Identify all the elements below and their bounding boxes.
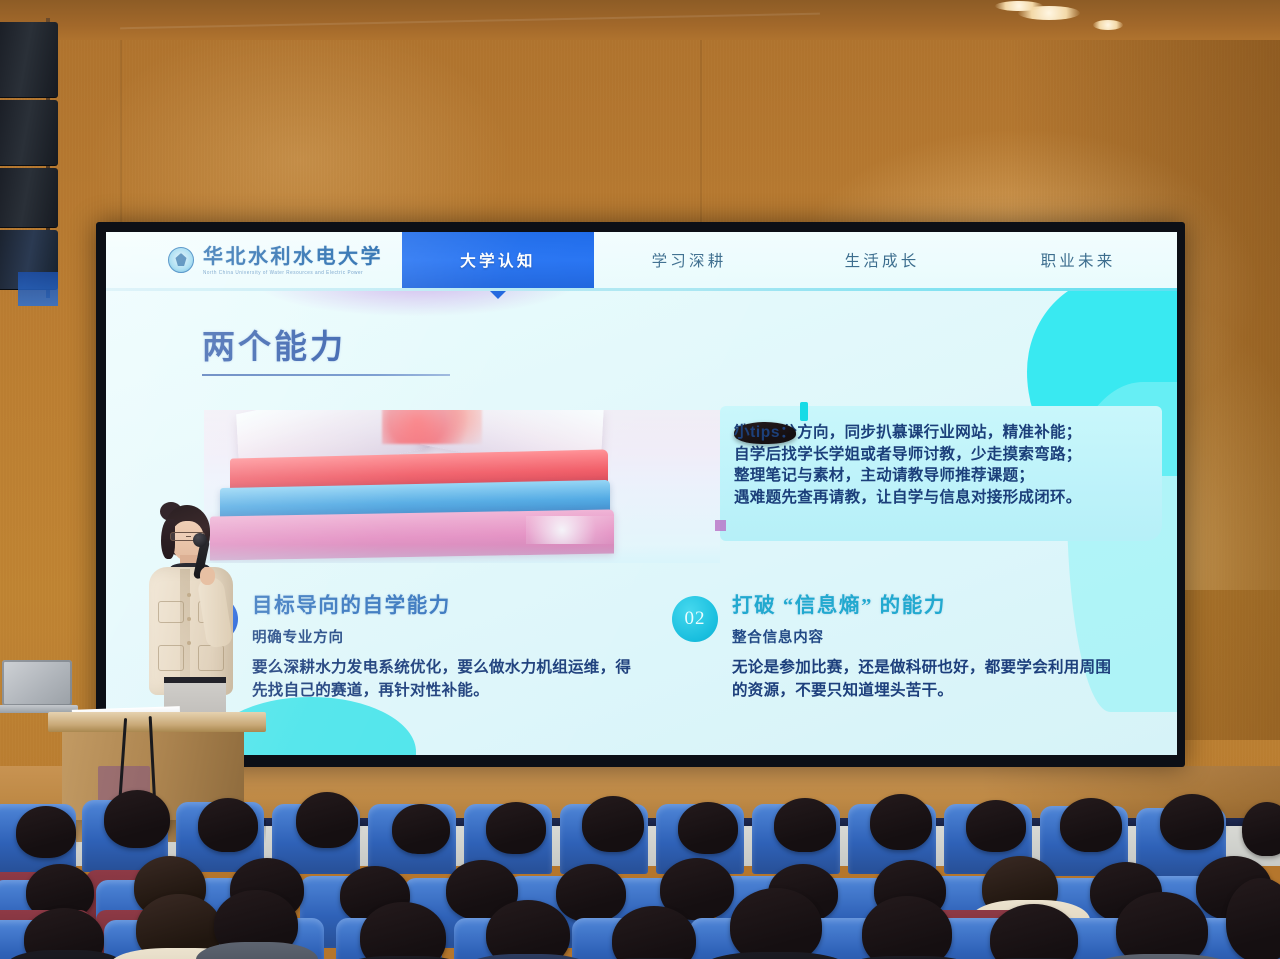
photo-haze — [204, 410, 720, 563]
tips-corner-accent — [715, 520, 726, 531]
ability-text-1: 目标导向的自学能力 明确专业方向 要么深耕水力发电系统优化，要么做水力机组运维，… — [252, 594, 642, 702]
ability-subheading-2: 整合信息内容 — [732, 626, 1122, 647]
audience-head — [1160, 794, 1224, 850]
ability-text-2: 打破 “信息熵” 的能力 整合信息内容 无论是参加比赛，还是做科研也好，都要学会… — [732, 594, 1122, 702]
logo-name-cn: 华北水利水电大学 — [203, 247, 383, 268]
tab-xuexi-shengeng[interactable]: 学习深耕 — [594, 232, 784, 288]
audience-head — [296, 792, 358, 848]
projection-screen-frame: 华北水利水电大学 North China University of Water… — [96, 222, 1185, 767]
slide-title-block: 两个能力 — [202, 332, 450, 376]
tab-zhiye-weilai[interactable]: 职业未来 — [980, 232, 1176, 288]
header-underline — [106, 288, 1177, 291]
slide-header: 华北水利水电大学 North China University of Water… — [106, 232, 1177, 288]
speaker-cabinet — [0, 168, 58, 228]
slide-title: 两个能力 — [202, 332, 450, 365]
ability-heading-1: 目标导向的自学能力 — [252, 594, 642, 620]
ceiling-seam — [120, 13, 820, 30]
tips-heading: 小tips： — [734, 422, 796, 444]
tab-label: 大学认知 — [460, 249, 536, 271]
audience-head — [870, 794, 932, 850]
audience-head — [486, 802, 546, 854]
ability-columns: 01 目标导向的自学能力 明确专业方向 要么深耕水力发电系统优化，要么做水力机组… — [192, 594, 1152, 702]
logo-name-en: North China University of Water Resource… — [203, 269, 383, 275]
tips-card: 小tips： 锁定细分方向，同步扒慕课行业网站，精准补能； 自学后找学长学姐或者… — [720, 406, 1162, 541]
audience-head — [16, 806, 76, 858]
tab-label: 学习深耕 — [652, 249, 727, 271]
decorative-blob-bottom — [206, 697, 416, 755]
ability-body-1: 要么深耕水力发电系统优化，要么做水力机组运维，得先找自己的赛道，再针对性补能。 — [252, 656, 642, 703]
university-seal-icon — [168, 247, 194, 273]
books-photo — [204, 410, 720, 563]
audience-head — [966, 800, 1026, 852]
tab-daxue-renzhi[interactable]: 大学认知 — [402, 232, 594, 288]
badge-02: 02 — [672, 596, 718, 642]
audience-head — [104, 790, 170, 848]
line-array-speakers — [0, 22, 62, 290]
university-logo: 华北水利水电大学 North China University of Water… — [106, 232, 402, 288]
ability-heading-2: 打破 “信息熵” 的能力 — [732, 594, 1122, 620]
audience-head — [556, 864, 626, 922]
audience-head — [730, 888, 822, 959]
audience — [0, 760, 1280, 959]
tab-shenghuo-chengzhang[interactable]: 生活成长 — [784, 232, 980, 288]
tab-label: 职业未来 — [1041, 249, 1116, 271]
tab-label: 生活成长 — [845, 249, 920, 271]
audience-head — [486, 900, 570, 959]
ceiling-light — [1093, 20, 1123, 30]
ceiling-light — [995, 1, 1043, 11]
logo-text-block: 华北水利水电大学 North China University of Water… — [203, 247, 383, 274]
badge-01: 01 — [192, 596, 238, 642]
audience-head — [1116, 892, 1208, 959]
audience-head — [582, 796, 644, 852]
presentation-slide[interactable]: 华北水利水电大学 North China University of Water… — [106, 232, 1177, 755]
speaker-cabinet — [0, 22, 58, 98]
tips-marker-icon — [800, 402, 808, 421]
ability-column-1: 01 目标导向的自学能力 明确专业方向 要么深耕水力发电系统优化，要么做水力机组… — [192, 594, 672, 702]
audience-rows — [0, 760, 1280, 959]
ability-column-2: 02 打破 “信息熵” 的能力 整合信息内容 无论是参加比赛，还是做科研也好，都… — [672, 594, 1132, 702]
tips-line-3: 整理笔记与素材，主动请教导师推荐课题； — [734, 465, 1148, 487]
tips-line-1: 锁定细分方向，同步扒慕课行业网站，精准补能； — [734, 422, 1148, 444]
audience-head — [392, 804, 450, 854]
tips-line-4: 遇难题先查再请教，让自学与信息对接形成闭环。 — [734, 487, 1148, 509]
ability-body-2: 无论是参加比赛，还是做科研也好，都要学会利用周围的资源，不要只知道埋头苦干。 — [732, 656, 1122, 703]
audience-head — [678, 802, 738, 854]
speaker-led — [18, 272, 58, 306]
title-underline — [202, 374, 450, 376]
speaker-cabinet — [0, 100, 58, 166]
audience-head — [198, 798, 258, 852]
ability-subheading-1: 明确专业方向 — [252, 626, 642, 647]
slide-nav-tabs: 大学认知 学习深耕 生活成长 职业未来 — [402, 232, 1177, 288]
tips-line-2: 自学后找学长学姐或者导师讨教，少走摸索弯路； — [734, 444, 1148, 466]
ceiling — [0, 0, 1280, 42]
audience-head — [1060, 798, 1122, 852]
audience-head — [774, 798, 836, 852]
audience-head — [1242, 802, 1280, 856]
